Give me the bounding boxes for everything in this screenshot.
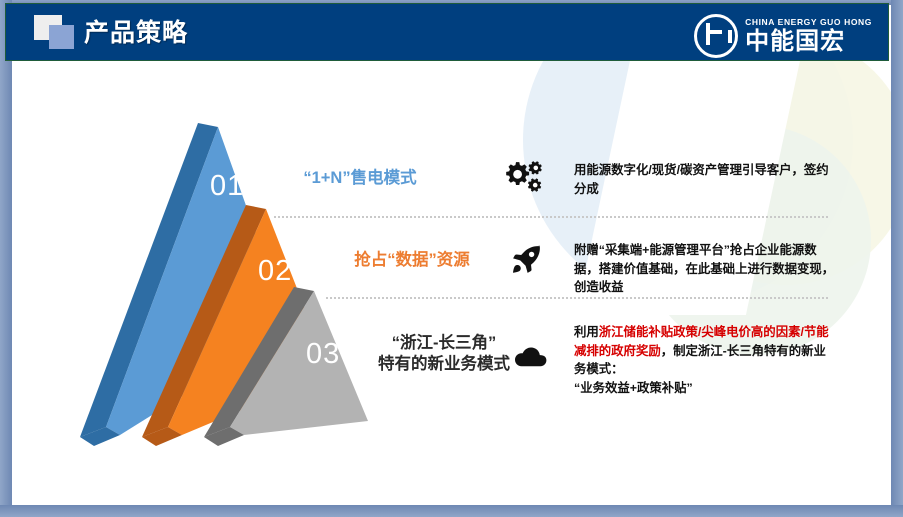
row-2-description: 附赠“采集端+能源管理平台”抢占企业能源数据，搭建价值基础，在此基础上进行数据变…: [574, 241, 836, 297]
logo-mark-bar-icon: [728, 30, 732, 43]
rocket-icon: [512, 245, 542, 275]
slide-inner-canvas: 01 02 03 “1+N”售电模式: [12, 5, 891, 505]
header-bar: 产品策略 CHINA ENERGY GUO HONG 中能国宏: [5, 3, 889, 61]
circle-g-logo-icon: [694, 14, 738, 58]
slide-canvas: 01 02 03 “1+N”售电模式: [0, 0, 903, 517]
frame-border-right: [891, 0, 903, 517]
row-3-description: 利用浙江储能补贴政策/尖峰电价高的因素/节能减排的政府奖励，制定浙江-长三角特有…: [574, 323, 836, 397]
page-title: 产品策略: [84, 17, 188, 49]
content-rows: “1+N”售电模式 用能源数字化/现货/碳资产管理引导客户，签约分成 抢占“数据…: [12, 5, 891, 505]
row-1-title: “1+N”售电模式: [270, 168, 450, 189]
row-2-description-text: 附赠“采集端+能源管理平台”抢占企业能源数据，搭建价值基础，在此基础上进行数据变…: [574, 243, 834, 294]
header-square-blue-icon: [49, 25, 74, 49]
gears-icon: [506, 161, 544, 195]
row-1-description: 用能源数字化/现货/碳资产管理引导客户，签约分成: [574, 161, 836, 198]
row-3-title-line-2: 特有的新业务模式: [378, 355, 510, 373]
row-2-title: 抢占“数据”资源: [322, 250, 502, 271]
logo-chinese-name: 中能国宏: [745, 30, 872, 54]
row-3-description-part-1: 利用: [574, 325, 599, 339]
logo-english-name: CHINA ENERGY GUO HONG: [745, 18, 872, 27]
row-3-title-line-1: “浙江-长三角”: [392, 334, 497, 352]
frame-border-left: [0, 0, 12, 517]
company-logo: CHINA ENERGY GUO HONG 中能国宏: [694, 14, 872, 58]
frame-border-bottom: [0, 505, 903, 517]
row-3-description-part-4: “业务效益+政策补贴”: [574, 381, 693, 395]
logo-text-block: CHINA ENERGY GUO HONG 中能国宏: [745, 18, 872, 54]
cloud-icon: [514, 345, 548, 369]
row-3-title: “浙江-长三角” 特有的新业务模式: [364, 333, 524, 375]
